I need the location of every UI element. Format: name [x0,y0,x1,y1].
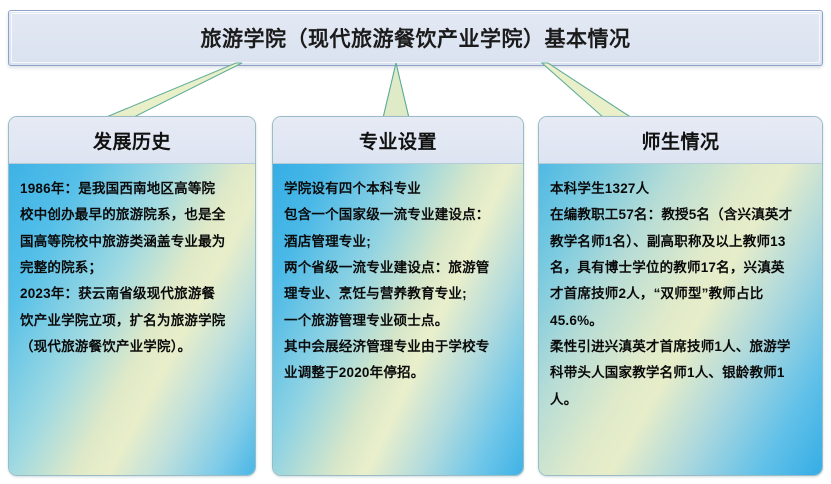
card-major-setup: 专业设置 学院设有四个本科专业 包含一个国家级一流专业建设点： 酒店管理专业; … [272,116,524,476]
text-line: 学院设有四个本科专业 [284,176,512,202]
text-line: 校中创办最早的旅游院系，也是全 [20,202,244,228]
text-line: 理专业、烹饪与营养教育专业; [284,281,512,307]
card-text-block: 学院设有四个本科专业 包含一个国家级一流专业建设点： 酒店管理专业; 两个省级一… [284,176,512,387]
text-line: 完整的院系； [20,255,244,281]
card-header-major-setup: 专业设置 [273,117,523,164]
text-line: 人。 [550,387,811,413]
connector-right-icon [542,63,632,118]
text-line: 包含一个国家级一流专业建设点： [284,202,512,228]
text-line: 酒店管理专业; [284,229,512,255]
text-line: 两个省级一流专业建设点：旅游管 [284,255,512,281]
connector-center-icon [383,63,409,118]
text-line: 名，具有博士学位的教师17名，兴滇英 [550,255,811,281]
connector-group [0,60,831,122]
connector-left-icon [104,63,242,118]
text-line: 才首席技师2人，“双师型”教师占比 [550,281,811,307]
text-line: 在编教职工57名：教授5名（含兴滇英才 [550,202,811,228]
card-body-development-history: 1986年：是我国西南地区高等院 校中创办最早的旅游院系，也是全 国高等院校中旅… [9,164,255,475]
text-line: 国高等院校中旅游类涵盖专业最为 [20,229,244,255]
text-line: 其中会展经济管理专业由于学校专 [284,334,512,360]
text-line: 45.6%。 [550,308,811,334]
text-line: 本科学生1327人 [550,176,811,202]
card-header-faculty-students: 师生情况 [539,117,822,164]
card-body-faculty-students: 本科学生1327人 在编教职工57名：教授5名（含兴滇英才 教学名师1名）、副高… [539,164,822,475]
card-text-block: 本科学生1327人 在编教职工57名：教授5名（含兴滇英才 教学名师1名）、副高… [550,176,811,413]
card-development-history: 发展历史 1986年：是我国西南地区高等院 校中创办最早的旅游院系，也是全 国高… [8,116,256,476]
text-line: 2023年：获云南省级现代旅游餐 [20,281,244,307]
card-body-major-setup: 学院设有四个本科专业 包含一个国家级一流专业建设点： 酒店管理专业; 两个省级一… [273,164,523,475]
cards-row: 发展历史 1986年：是我国西南地区高等院 校中创办最早的旅游院系，也是全 国高… [0,116,831,476]
text-line: （现代旅游餐饮产业学院）。 [20,334,244,360]
card-header-development-history: 发展历史 [9,117,255,164]
text-line: 饮产业学院立项，扩名为旅游学院 [20,308,244,334]
card-title: 发展历史 [93,127,171,154]
diagram-title-banner: 旅游学院（现代旅游餐饮产业学院）基本情况 [8,10,823,66]
text-line: 柔性引进兴滇英才首席技师1人、旅游学 [550,334,811,360]
card-text-block: 1986年：是我国西南地区高等院 校中创办最早的旅游院系，也是全 国高等院校中旅… [20,176,244,360]
text-line: 科带头人国家教学名师1人、银龄教师1 [550,360,811,386]
text-line: 业调整于2020年停招。 [284,360,512,386]
text-line: 1986年：是我国西南地区高等院 [20,176,244,202]
card-title: 师生情况 [641,127,719,154]
text-line: 一个旅游管理专业硕士点。 [284,308,512,334]
card-faculty-students: 师生情况 本科学生1327人 在编教职工57名：教授5名（含兴滇英才 教学名师1… [538,116,823,476]
page-title: 旅游学院（现代旅游餐饮产业学院）基本情况 [201,23,631,53]
text-line: 教学名师1名）、副高职称及以上教师13 [550,229,811,255]
card-title: 专业设置 [359,127,437,154]
